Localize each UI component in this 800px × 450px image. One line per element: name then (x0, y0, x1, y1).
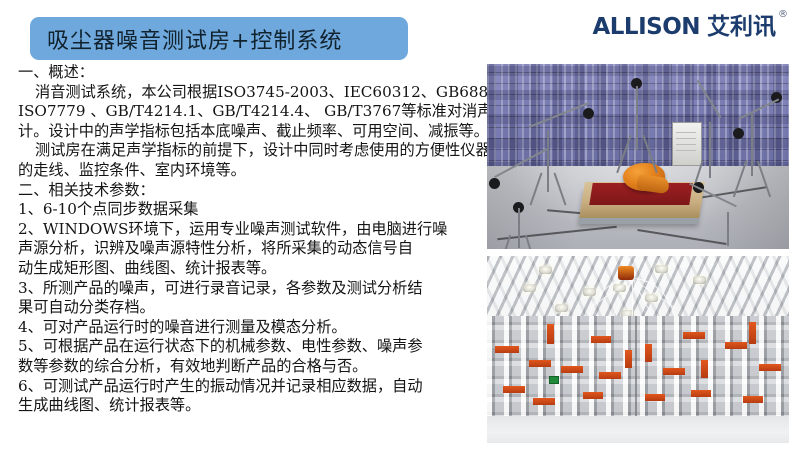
orange-wedge (725, 342, 747, 349)
tripod-boom-arm (739, 98, 779, 119)
microphone-icon (489, 178, 500, 189)
text-line: 计。设计中的声学指标包括本底噪声、截止频率、可用空间、减振等。 (18, 122, 480, 142)
body-text-column: 一、概述： 消音测试系统，本公司根据ISO3745-2003、IEC60312、… (18, 63, 480, 416)
tripod-boom-arm (689, 183, 737, 208)
orange-wedge (759, 364, 781, 371)
text-line: 1、6-10个点同步数据采集 (18, 200, 480, 220)
sound-source-unit (618, 266, 634, 280)
text-line: 3、所测产品的噪声，可进行录音记录，各参数及测试分析结 (18, 279, 480, 299)
ceiling-light (583, 288, 596, 296)
microphone-tripod (617, 74, 677, 184)
text-line: 生成曲线图、统计报表等。 (18, 396, 480, 416)
text-line: 5、可根据产品在运行状态下的机械参数、电性参数、噪声参 (18, 337, 480, 357)
orange-wedge (683, 332, 705, 339)
microphone-icon (733, 128, 744, 139)
text-line: 二、相关技术参数： (18, 181, 480, 201)
logo-latin-text: ALLISON (592, 16, 700, 39)
ceiling-light (539, 266, 552, 274)
text-line: 数等参数的综合分析，有效地判断产品的合格与否。 (18, 357, 480, 377)
text-line: 动生成矩形图、曲线图、统计报表等。 (18, 259, 480, 279)
tripod-leg (642, 135, 658, 173)
text-line: 的走线、监控条件、室内环境等。 (18, 161, 480, 181)
orange-wedge (591, 336, 611, 343)
company-logo: ALLISON 艾利讯 ® (592, 16, 788, 39)
text-line: 声源分析，识辨及噪声源特性分析，将所采集的动态信号自 (18, 239, 480, 259)
text-line: ISO7779 、GB/T4214.1、GB/T4214.4、 GB/T3767… (18, 102, 480, 122)
photo-content (487, 64, 789, 249)
text-line: 消音测试系统，本公司根据ISO3745-2003、IEC60312、GB6882… (18, 83, 480, 103)
tripod-leg (530, 173, 543, 206)
tripod-leg (727, 212, 729, 246)
ceiling-light (523, 284, 536, 292)
photo-anechoic-chamber-interior (487, 256, 789, 443)
tripod-leg (518, 208, 520, 248)
orange-wedge (547, 324, 554, 344)
text-line: 2、WINDOWS环境下，运用专业噪声测试软件，由电脑进行噪 (18, 220, 480, 240)
text-line: 一、概述： (18, 63, 480, 83)
tripod-leg (709, 122, 711, 178)
orange-wedge (533, 398, 555, 405)
orange-wedge (701, 360, 708, 378)
tripod-leg (751, 114, 753, 176)
text-line: 测试房在满足声学指标的前提下，设计中同时考虑使用的方便性仪器 (18, 141, 480, 161)
tripod-boom-arm (696, 80, 721, 118)
tripod-leg (554, 173, 567, 206)
wall-corner (635, 316, 637, 420)
orange-wedge (561, 366, 583, 373)
exit-sign-icon (549, 376, 559, 384)
tripod-leg (547, 130, 549, 192)
orange-wedge (529, 360, 551, 367)
orange-wedge (645, 394, 665, 401)
tripod-boom-arm (529, 102, 589, 128)
registered-trademark-icon: ® (778, 10, 788, 20)
orange-wedge (663, 368, 685, 375)
orange-wedge (691, 390, 711, 397)
orange-wedge (645, 344, 652, 362)
orange-wedge (503, 386, 525, 393)
orange-wedge (583, 392, 603, 399)
microphone-tripod (683, 176, 743, 249)
orange-wedge (749, 322, 756, 344)
title-banner: 吸尘器噪音测试房+控制系统 (30, 17, 408, 60)
tripod-leg (636, 86, 638, 150)
ceiling-light (655, 265, 668, 273)
orange-wedge (599, 372, 621, 379)
photo-content (487, 256, 789, 443)
ceiling-light (555, 304, 568, 312)
logo-cjk-text: 艾利讯 (707, 16, 776, 39)
microphone-icon (583, 108, 594, 119)
chamber-floor (487, 416, 789, 443)
tripod-leg (616, 135, 632, 173)
ceiling-light (693, 276, 706, 284)
text-line: 4、可对产品运行时的噪音进行测量及模态分析。 (18, 318, 480, 338)
orange-wedge (743, 396, 763, 403)
photo-anechoic-chamber-vacuum-test (487, 64, 789, 249)
text-line: 6、可测试产品运行时产生的振动情况并记录相应数据，自动 (18, 377, 480, 397)
orange-wedge (495, 346, 519, 353)
text-line: 果可自动分类存档。 (18, 298, 480, 318)
page-title: 吸尘器噪音测试房+控制系统 (30, 23, 342, 55)
orange-wedge (625, 350, 632, 368)
slide-root: 吸尘器噪音测试房+控制系统 ALLISON 艾利讯 ® 一、概述： 消音测试系统… (0, 0, 800, 450)
microphone-tripod (527, 94, 587, 214)
tripod-leg (757, 161, 771, 198)
